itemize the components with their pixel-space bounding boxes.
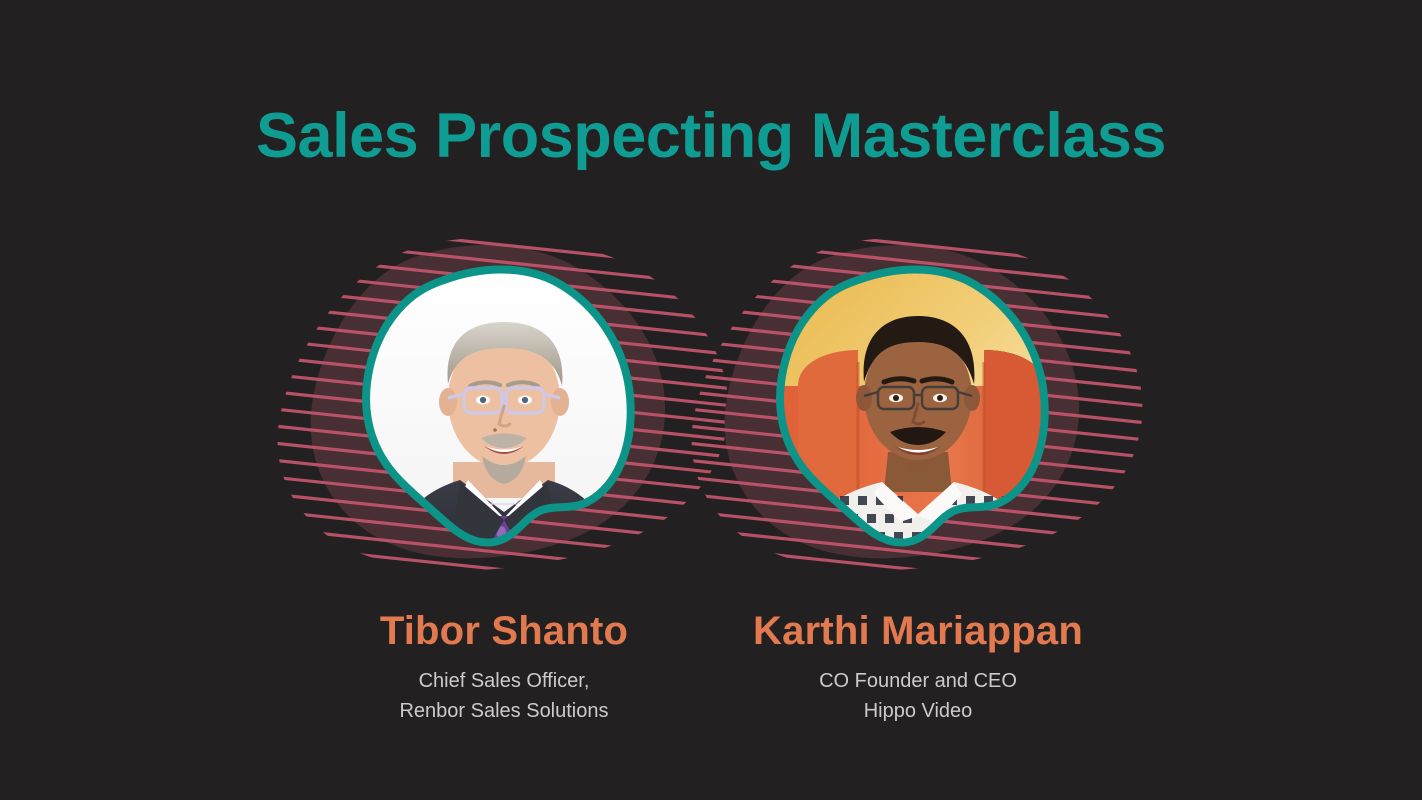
- speaker-role-line-1: Chief Sales Officer,: [399, 666, 608, 696]
- speakers-row: Tibor Shanto Chief Sales Officer, Renbor…: [0, 236, 1422, 727]
- speaker-role: Chief Sales Officer, Renbor Sales Soluti…: [399, 666, 608, 727]
- speaker-role-line-1: CO Founder and CEO: [819, 666, 1017, 696]
- speaker-name: Tibor Shanto: [380, 611, 628, 651]
- speaker-card-karthi-mariappan: Karthi Mariappan CO Founder and CEO Hipp…: [663, 236, 1173, 727]
- presentation-slide: Sales Prospecting Masterclass: [0, 0, 1422, 800]
- speaker-role-line-2: Hippo Video: [819, 696, 1017, 726]
- speaker-role: CO Founder and CEO Hippo Video: [819, 666, 1017, 727]
- page-title: Sales Prospecting Masterclass: [0, 103, 1422, 169]
- speaker-artwork: [683, 236, 1153, 586]
- speaker-name: Karthi Mariappan: [753, 611, 1083, 651]
- speaker-role-line-2: Renbor Sales Solutions: [399, 696, 608, 726]
- speaker-photo-tibor-shanto: [348, 266, 660, 566]
- speaker-photo-karthi-mariappan: [762, 266, 1074, 566]
